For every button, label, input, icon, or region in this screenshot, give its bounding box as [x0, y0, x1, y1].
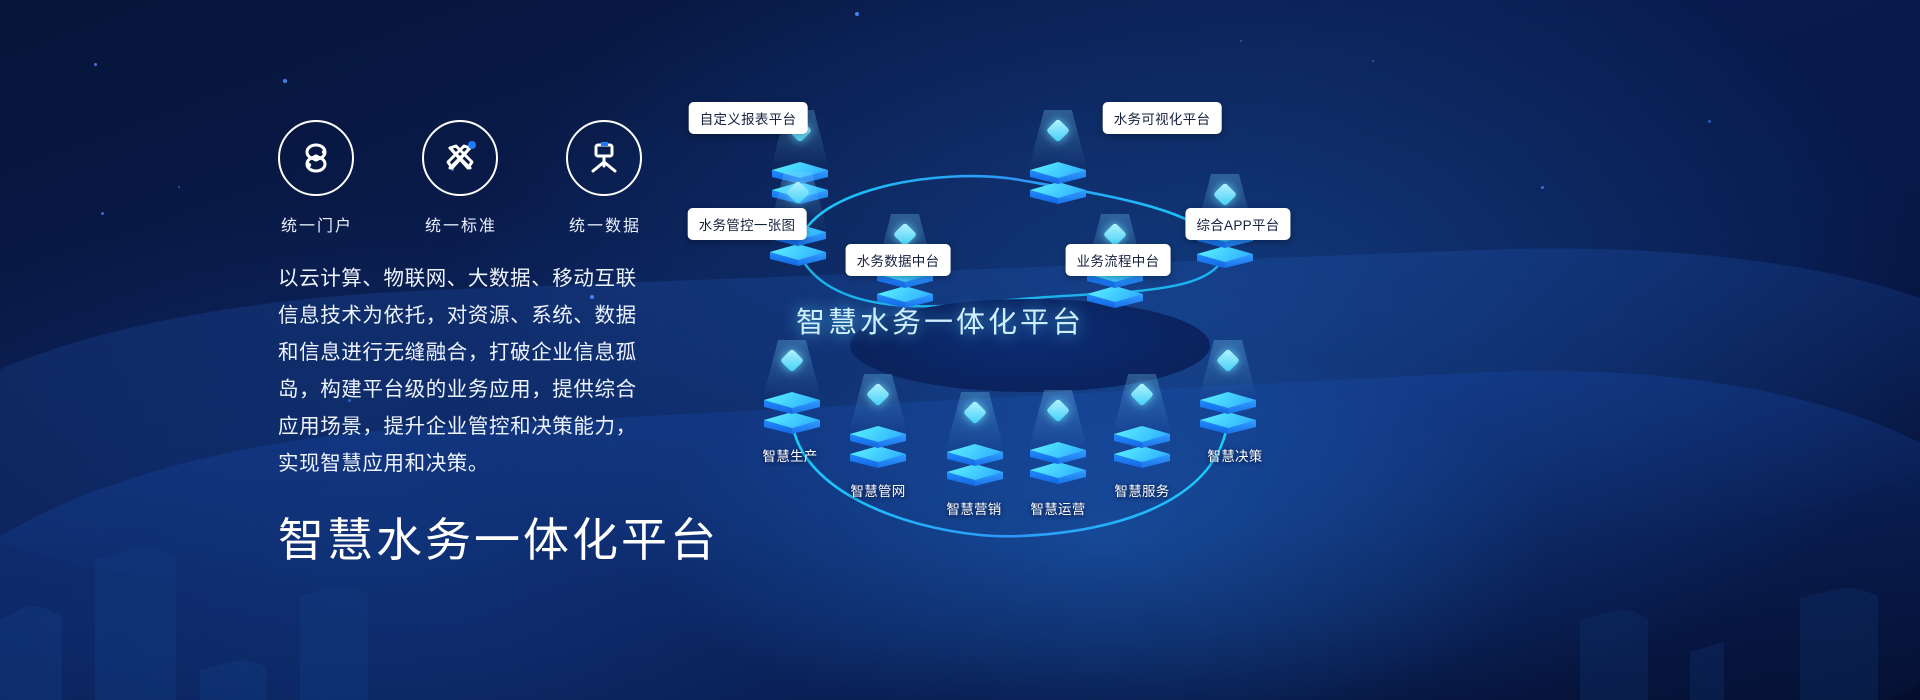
node-label[interactable]: 水务管控一张图 [688, 208, 807, 240]
node-label[interactable]: 智慧服务 [1114, 480, 1169, 500]
star-dot [101, 212, 104, 215]
node-label[interactable]: 自定义报表平台 [689, 102, 808, 134]
feature-item-data[interactable]: 统一数据 [566, 120, 644, 236]
node-label[interactable]: 智慧运营 [1030, 498, 1085, 518]
diagram-node[interactable] [760, 386, 824, 450]
feature-label: 统一标准 [422, 212, 500, 236]
node-slab-upper [1200, 392, 1256, 418]
diagram-node[interactable] [1110, 420, 1174, 484]
atom-icon [278, 120, 354, 196]
node-slab-upper [1114, 426, 1170, 452]
left-content-panel: 统一门户 统一标准 [278, 120, 678, 570]
star-dot [1541, 186, 1544, 189]
platform-architecture-diagram: 智慧水务一体化平台 自定义报表平台水务可视化平台水务管控一张图综合APP平台水务… [690, 70, 1310, 590]
feature-icon-row: 统一门户 统一标准 [278, 120, 678, 236]
city-skyline-right [1560, 420, 1920, 700]
feature-item-portal[interactable]: 统一门户 [278, 120, 356, 236]
node-label[interactable]: 水务可视化平台 [1103, 102, 1222, 134]
node-slab-upper [1030, 162, 1086, 188]
feature-item-standard[interactable]: 统一标准 [422, 120, 500, 236]
diagram-node[interactable] [1196, 386, 1260, 450]
description-paragraph: 以云计算、物联网、大数据、移动互联信息技术为依托，对资源、系统、数据和信息进行无… [278, 260, 656, 482]
antenna-icon [566, 120, 642, 196]
star-dot [1240, 40, 1242, 42]
star-dot [94, 63, 97, 66]
node-label[interactable]: 智慧管网 [850, 480, 905, 500]
page-title: 智慧水务一体化平台 [278, 504, 678, 570]
star-dot [855, 12, 859, 16]
star-dot [178, 186, 180, 188]
diagram-node[interactable] [846, 420, 910, 484]
diagram-node[interactable] [1026, 156, 1090, 220]
node-slab-upper [947, 444, 1003, 470]
star-dot [283, 79, 287, 83]
node-label[interactable]: 水务数据中台 [846, 244, 951, 276]
node-slab-upper [1030, 442, 1086, 468]
star-dot [1372, 60, 1374, 62]
diagram-node[interactable] [1026, 436, 1090, 500]
node-slab-upper [850, 426, 906, 452]
node-slab-upper [764, 392, 820, 418]
node-label[interactable]: 智慧营销 [946, 498, 1001, 518]
node-label[interactable]: 业务流程中台 [1066, 244, 1171, 276]
feature-label: 统一门户 [278, 212, 356, 236]
star-dot [1708, 120, 1711, 123]
diagram-node[interactable] [943, 438, 1007, 502]
ruler-pencil-icon [422, 120, 498, 196]
node-label[interactable]: 综合APP平台 [1185, 208, 1290, 240]
banner-stage: 统一门户 统一标准 [0, 0, 1920, 700]
feature-label: 统一数据 [566, 212, 644, 236]
node-label[interactable]: 智慧决策 [1207, 445, 1262, 465]
node-label[interactable]: 智慧生产 [762, 445, 817, 465]
central-platform-title: 智慧水务一体化平台 [796, 299, 1084, 341]
